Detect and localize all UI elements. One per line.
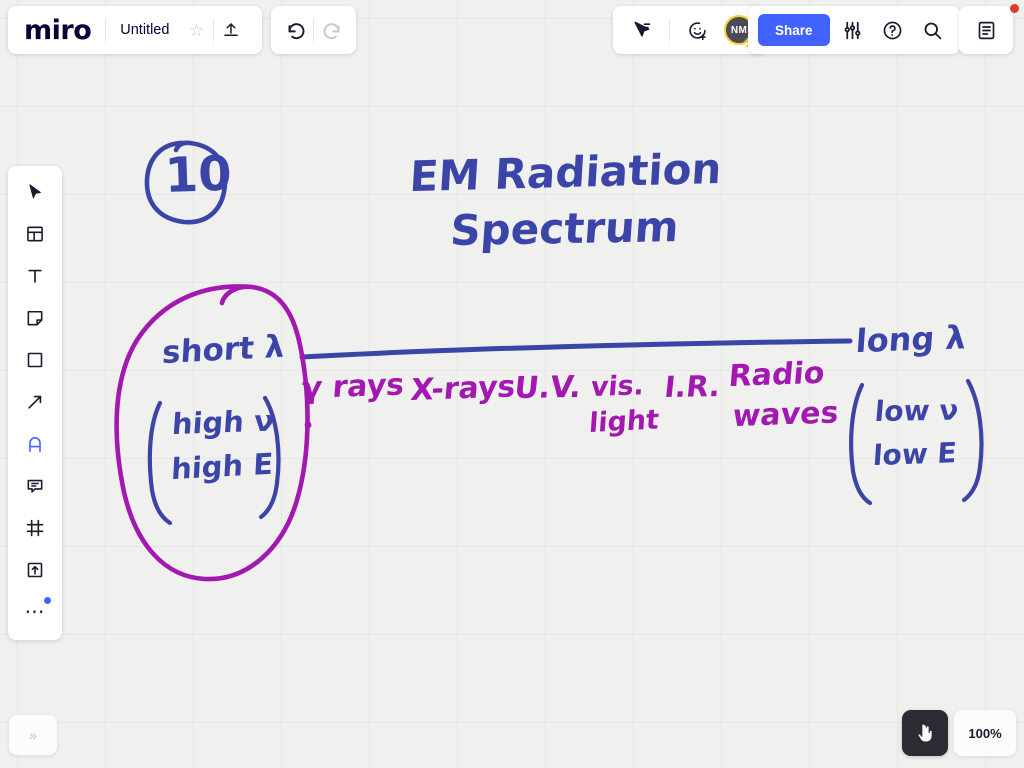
- miro-board-app: 10 EM Radiation Spectrum short λ high ν …: [0, 0, 1024, 768]
- undo-redo-group: [271, 6, 356, 54]
- search-button[interactable]: [916, 13, 950, 47]
- upload-icon: [222, 21, 240, 39]
- board-canvas[interactable]: [0, 0, 1024, 768]
- help-button[interactable]: [876, 13, 910, 47]
- sticky-note-icon: [25, 308, 45, 328]
- redo-arrow-icon: [321, 20, 342, 41]
- new-feature-dot: [44, 597, 51, 604]
- divider: [669, 18, 670, 42]
- text-tool[interactable]: [15, 257, 55, 295]
- collaboration-group: NM ⚡: [613, 6, 766, 54]
- select-tool[interactable]: [15, 173, 55, 211]
- upload-box-icon: [25, 560, 45, 580]
- cursor-arrow-icon: [26, 183, 45, 202]
- search-icon: [922, 20, 943, 41]
- reactions-button[interactable]: [680, 13, 714, 47]
- undo-arrow-icon: [286, 20, 307, 41]
- share-button[interactable]: Share: [758, 14, 830, 46]
- pen-tool[interactable]: [15, 425, 55, 463]
- comment-tool[interactable]: [15, 467, 55, 505]
- hand-tool-button[interactable]: [902, 710, 948, 756]
- miro-logo[interactable]: miro: [24, 17, 105, 44]
- upload-tool[interactable]: [15, 551, 55, 589]
- main-actions-group: Share: [748, 6, 960, 54]
- board-header-group: miro Untitled ☆: [8, 6, 262, 54]
- zoom-level-display[interactable]: 100%: [954, 710, 1016, 756]
- smiley-plus-icon: [687, 20, 708, 41]
- expand-panel-button[interactable]: »: [9, 715, 57, 755]
- cursor-share-icon: [632, 20, 652, 40]
- more-tools[interactable]: ⋯: [15, 593, 55, 631]
- notes-panel-group: [959, 6, 1013, 54]
- frame-icon: [25, 518, 45, 538]
- document-title[interactable]: Untitled: [106, 22, 179, 38]
- redo-button[interactable]: [314, 13, 348, 47]
- template-grid-icon: [25, 224, 45, 244]
- templates-tool[interactable]: [15, 215, 55, 253]
- shapes-tool[interactable]: [15, 341, 55, 379]
- undo-button[interactable]: [279, 13, 313, 47]
- comment-bubble-icon: [25, 476, 45, 496]
- cursor-share-button[interactable]: [625, 13, 659, 47]
- upload-button[interactable]: [214, 13, 248, 47]
- square-icon: [25, 350, 45, 370]
- arrow-diagonal-icon: [25, 392, 45, 412]
- notes-panel-button[interactable]: [969, 13, 1003, 47]
- question-circle-icon: [882, 20, 903, 41]
- notification-badge-dot: [1010, 4, 1019, 13]
- hand-pointer-icon: [913, 720, 937, 746]
- double-chevron-right-icon: »: [29, 727, 37, 743]
- connector-tool[interactable]: [15, 383, 55, 421]
- frame-tool[interactable]: [15, 509, 55, 547]
- pen-a-icon: [25, 434, 45, 455]
- sticky-note-tool[interactable]: [15, 299, 55, 337]
- star-outline-icon: ☆: [189, 22, 204, 39]
- settings-button[interactable]: [836, 13, 870, 47]
- text-t-icon: [25, 266, 45, 286]
- creation-toolbar: ⋯: [8, 166, 62, 640]
- notes-panel-icon: [976, 20, 997, 41]
- favorite-star-button[interactable]: ☆: [179, 13, 213, 47]
- zoom-controls: 100%: [902, 710, 1016, 756]
- sliders-icon: [842, 20, 863, 41]
